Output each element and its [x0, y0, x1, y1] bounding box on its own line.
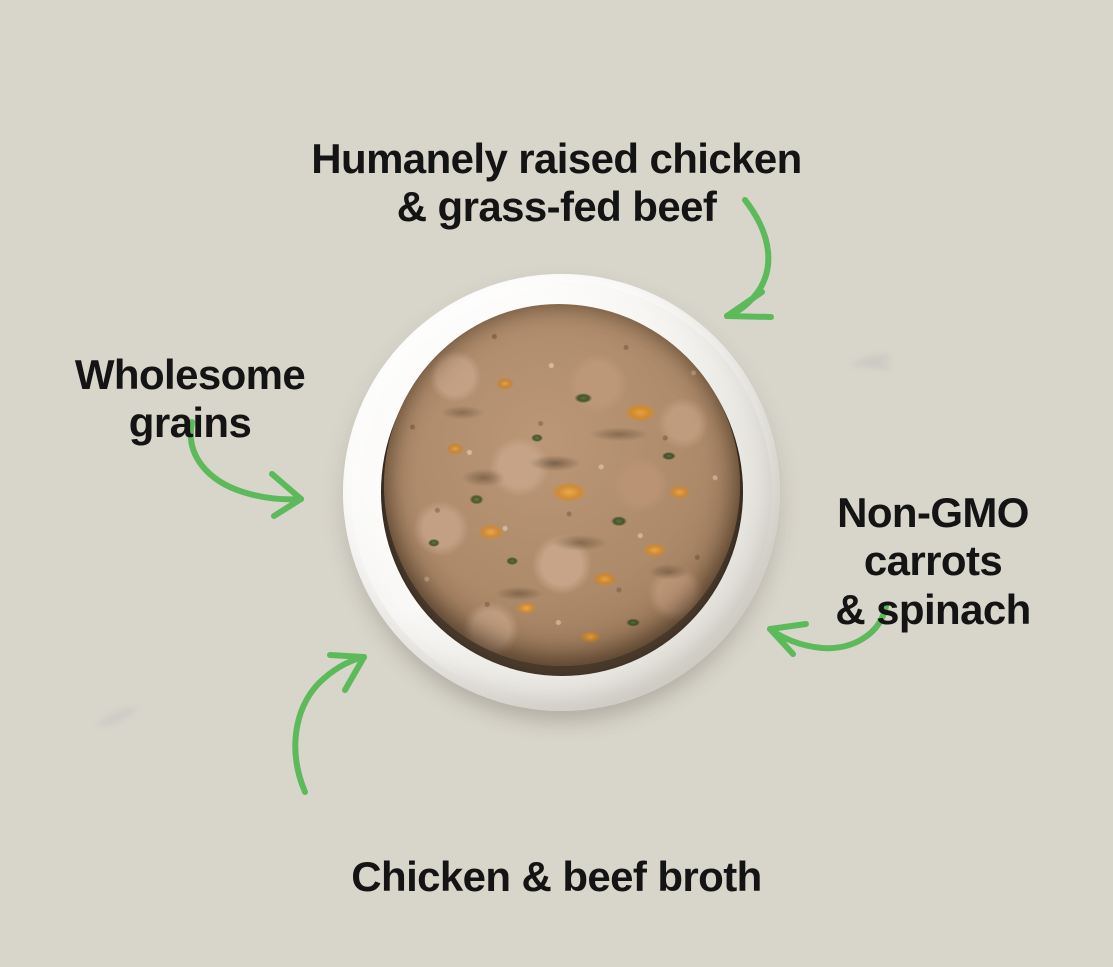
ingredient-callout-scene: Humanely raised chicken & grass-fed beef…: [0, 0, 1113, 967]
callout-wholesome-grains: Wholesome grains: [40, 302, 340, 448]
callout-chicken-and-beef-broth: Chicken & beef broth: [0, 804, 1113, 901]
callout-broth-text: Chicken & beef broth: [351, 853, 761, 900]
callout-non-gmo-carrots-and-spinach: Non-GMO carrots & spinach: [800, 440, 1066, 635]
dog-food-bowl: [343, 274, 780, 711]
callout-protein-text: Humanely raised chicken & grass-fed beef: [311, 135, 801, 232]
callout-veg-text: Non-GMO carrots & spinach: [835, 489, 1030, 633]
dog-food-pate: [384, 304, 740, 666]
callout-humanely-raised-chicken-and-grass-fed-beef: Humanely raised chicken & grass-fed beef: [0, 86, 1113, 232]
callout-grains-text: Wholesome grains: [75, 351, 305, 447]
photo-smudge-artifact: [96, 704, 138, 730]
photo-smudge-artifact: [866, 362, 892, 371]
